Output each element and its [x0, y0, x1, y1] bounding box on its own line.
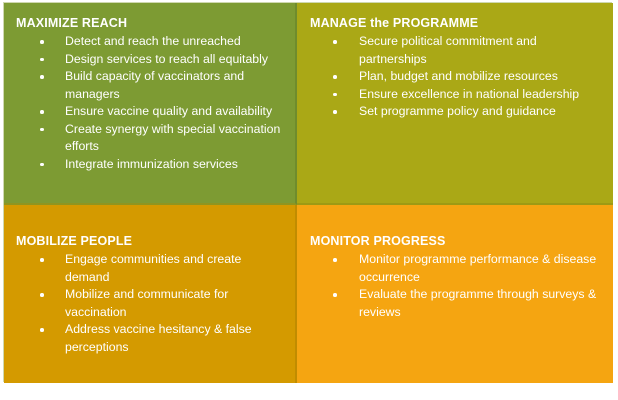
bullet-icon	[40, 58, 44, 62]
list-item: Build capacity of vaccinators and manage…	[13, 68, 287, 103]
list-item: Detect and reach the unreached	[13, 33, 287, 51]
list-item: Secure political commitment and partners…	[307, 33, 605, 68]
list-item-text: Address vaccine hesitancy & false percep…	[65, 321, 287, 356]
list-item-text: Evaluate the programme through surveys &…	[359, 286, 605, 321]
bullet-icon	[40, 40, 44, 44]
list-item: Integrate immunization services	[13, 156, 287, 174]
bullet-list-mobilize-people: Engage communities and create demand Mob…	[13, 251, 287, 356]
list-item: Create synergy with special vaccination …	[13, 121, 287, 156]
list-item-text: Integrate immunization services	[65, 156, 287, 174]
list-item: Design services to reach all equitably	[13, 51, 287, 69]
bullet-icon	[40, 128, 44, 132]
bullet-list-maximize-reach: Detect and reach the unreached Design se…	[13, 33, 287, 173]
list-item: Evaluate the programme through surveys &…	[307, 286, 605, 321]
list-item: Mobilize and communicate for vaccination	[13, 286, 287, 321]
list-item-text: Ensure excellence in national leadership	[359, 86, 605, 104]
bullet-icon	[40, 163, 44, 167]
list-item: Plan, budget and mobilize resources	[307, 68, 605, 86]
list-item-text: Secure political commitment and partners…	[359, 33, 605, 68]
quadrant-title-mobilize-people: MOBILIZE PEOPLE	[16, 234, 287, 249]
quadrant-content: MANAGE the PROGRAMME Secure political co…	[297, 16, 613, 121]
list-item-text: Create synergy with special vaccination …	[65, 121, 287, 156]
list-item-text: Monitor programme performance & disease …	[359, 251, 605, 286]
list-item-text: Mobilize and communicate for vaccination	[65, 286, 287, 321]
bullet-icon	[333, 75, 337, 79]
list-item-text: Plan, budget and mobilize resources	[359, 68, 605, 86]
bullet-icon	[40, 328, 44, 332]
four-quadrant-matrix: MAXIMIZE REACH Detect and reach the unre…	[3, 2, 612, 382]
bullet-icon	[333, 293, 337, 297]
quadrant-content: MONITOR PROGRESS Monitor programme perfo…	[297, 234, 613, 321]
list-item-text: Build capacity of vaccinators and manage…	[65, 68, 287, 103]
quadrant-content: MAXIMIZE REACH Detect and reach the unre…	[4, 16, 295, 173]
list-item-text: Engage communities and create demand	[65, 251, 287, 286]
list-item: Ensure vaccine quality and availability	[13, 103, 287, 121]
quadrant-mobilize-people: MOBILIZE PEOPLE Engage communities and c…	[4, 205, 297, 383]
quadrant-maximize-reach: MAXIMIZE REACH Detect and reach the unre…	[4, 3, 297, 205]
list-item: Set programme policy and guidance	[307, 103, 605, 121]
quadrant-title-monitor-progress: MONITOR PROGRESS	[310, 234, 605, 249]
bullet-icon	[40, 258, 44, 262]
bullet-icon	[40, 110, 44, 114]
quadrant-manage-programme: MANAGE the PROGRAMME Secure political co…	[297, 3, 613, 205]
bullet-list-monitor-progress: Monitor programme performance & disease …	[307, 251, 605, 321]
bullet-icon	[40, 75, 44, 79]
bullet-icon	[333, 258, 337, 262]
list-item: Monitor programme performance & disease …	[307, 251, 605, 286]
list-item: Ensure excellence in national leadership	[307, 86, 605, 104]
bullet-icon	[333, 93, 337, 97]
list-item: Engage communities and create demand	[13, 251, 287, 286]
bullet-icon	[333, 40, 337, 44]
list-item-text: Design services to reach all equitably	[65, 51, 287, 69]
quadrant-content: MOBILIZE PEOPLE Engage communities and c…	[4, 234, 295, 356]
list-item-text: Ensure vaccine quality and availability	[65, 103, 287, 121]
quadrant-title-manage-programme: MANAGE the PROGRAMME	[310, 16, 605, 31]
bullet-icon	[333, 110, 337, 114]
bullet-icon	[40, 293, 44, 297]
quadrant-title-maximize-reach: MAXIMIZE REACH	[16, 16, 287, 31]
list-item-text: Detect and reach the unreached	[65, 33, 287, 51]
quadrant-monitor-progress: MONITOR PROGRESS Monitor programme perfo…	[297, 205, 613, 383]
bullet-list-manage-programme: Secure political commitment and partners…	[307, 33, 605, 121]
list-item-text: Set programme policy and guidance	[359, 103, 605, 121]
list-item: Address vaccine hesitancy & false percep…	[13, 321, 287, 356]
